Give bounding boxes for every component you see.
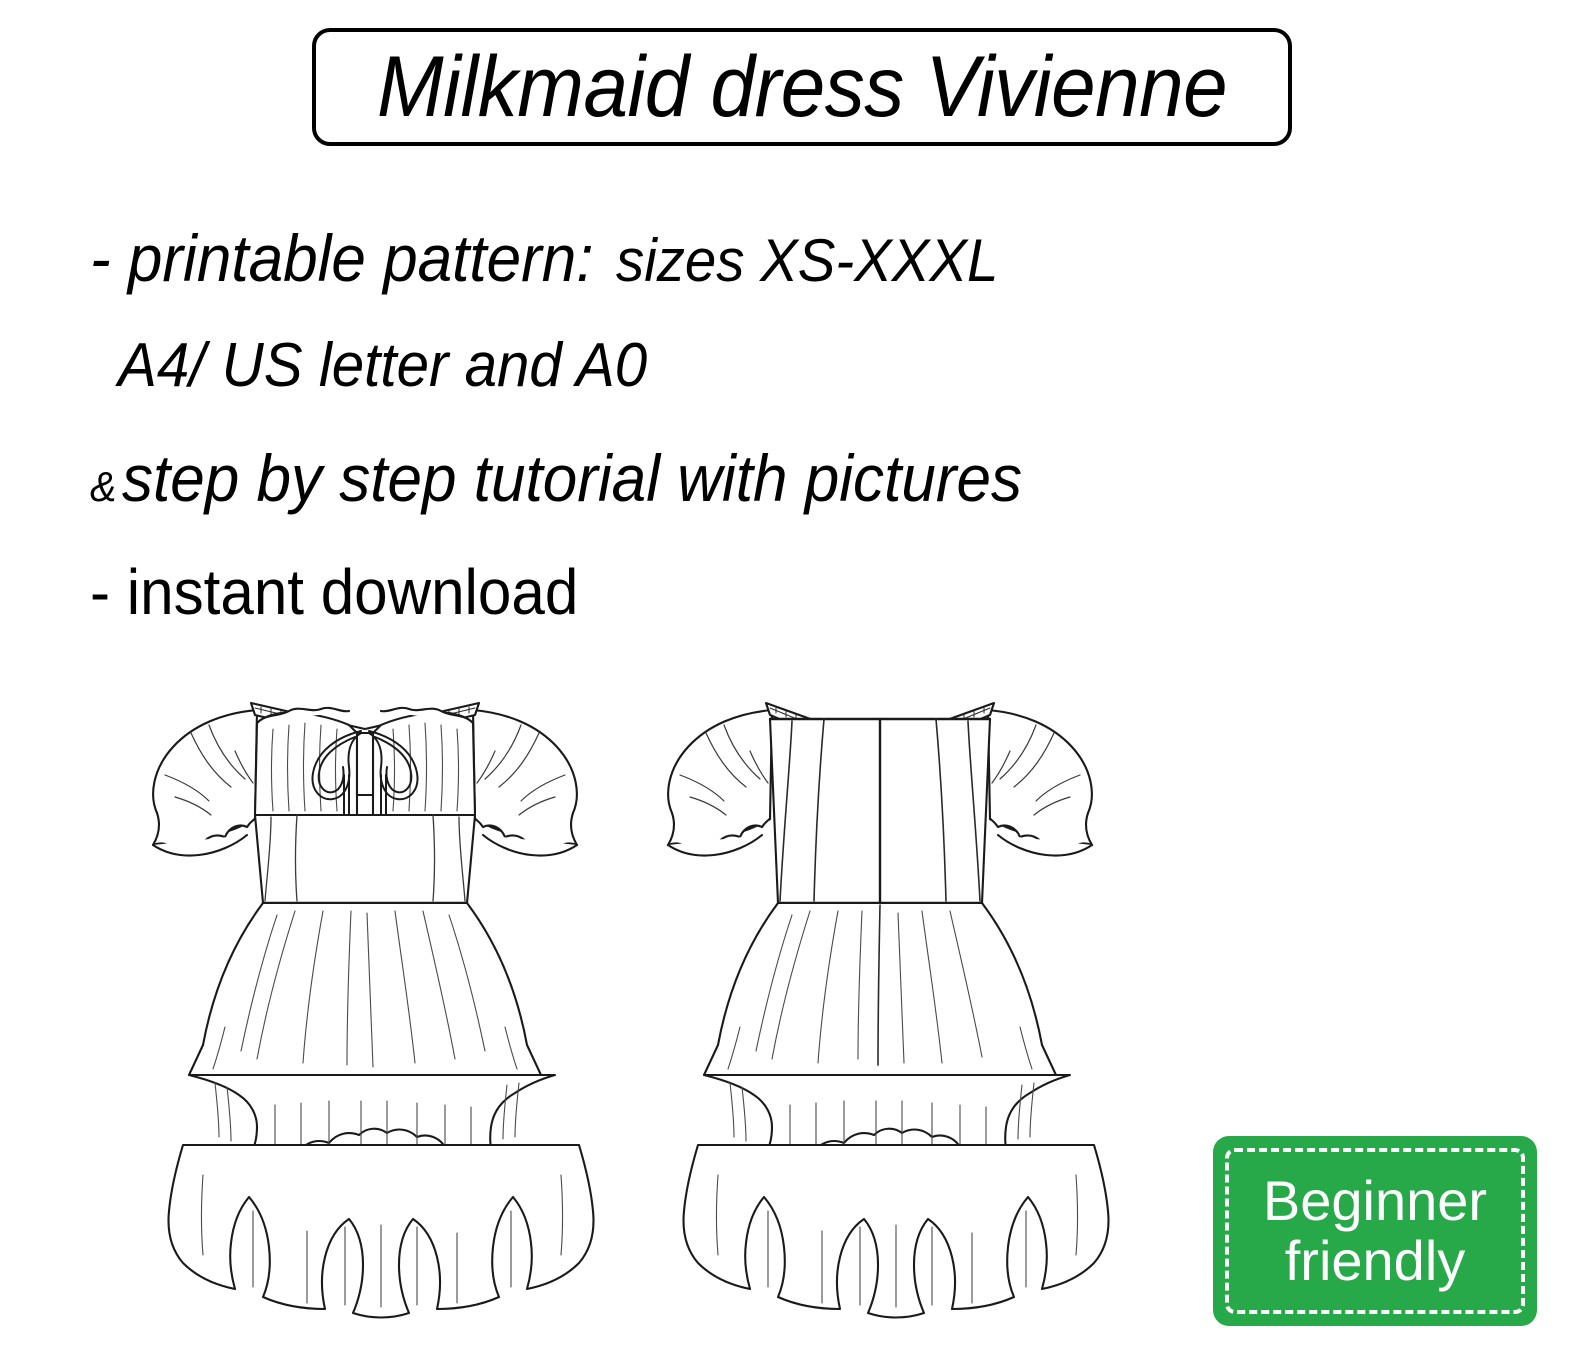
beginner-friendly-badge: Beginner friendly (1213, 1136, 1537, 1326)
poster-canvas: Milkmaid dress Vivienne - printable patt… (0, 0, 1588, 1361)
badge-dashed-frame: Beginner friendly (1225, 1148, 1525, 1314)
dress-front-svg (105, 655, 625, 1335)
title-box: Milkmaid dress Vivienne (312, 28, 1292, 146)
ampersand-glyph: & (90, 466, 116, 508)
feature-item-pattern: - printable pattern:sizes XS-XXXL (90, 225, 1022, 291)
feature-pattern-lead: - printable pattern: (90, 225, 594, 291)
dress-back-svg (620, 655, 1140, 1335)
feature-tutorial-label: step by step tutorial with pictures (122, 445, 1022, 511)
page-title: Milkmaid dress Vivienne (377, 44, 1227, 130)
badge-line-2: friendly (1285, 1231, 1466, 1291)
feature-item-tutorial: &step by step tutorial with pictures (90, 445, 1079, 511)
feature-pattern-sizes: sizes XS-XXXL (616, 231, 998, 291)
feature-item-instant-download: - instant download (90, 560, 578, 624)
feature-item-paper-sizes: A4/ US letter and A0 (118, 335, 647, 397)
feature-instant-download-label: - instant download (90, 560, 578, 624)
dress-front-illustration (105, 655, 625, 1335)
dress-back-illustration (620, 655, 1140, 1335)
feature-paper-sizes-label: A4/ US letter and A0 (118, 335, 647, 397)
badge-line-1: Beginner (1263, 1171, 1487, 1231)
